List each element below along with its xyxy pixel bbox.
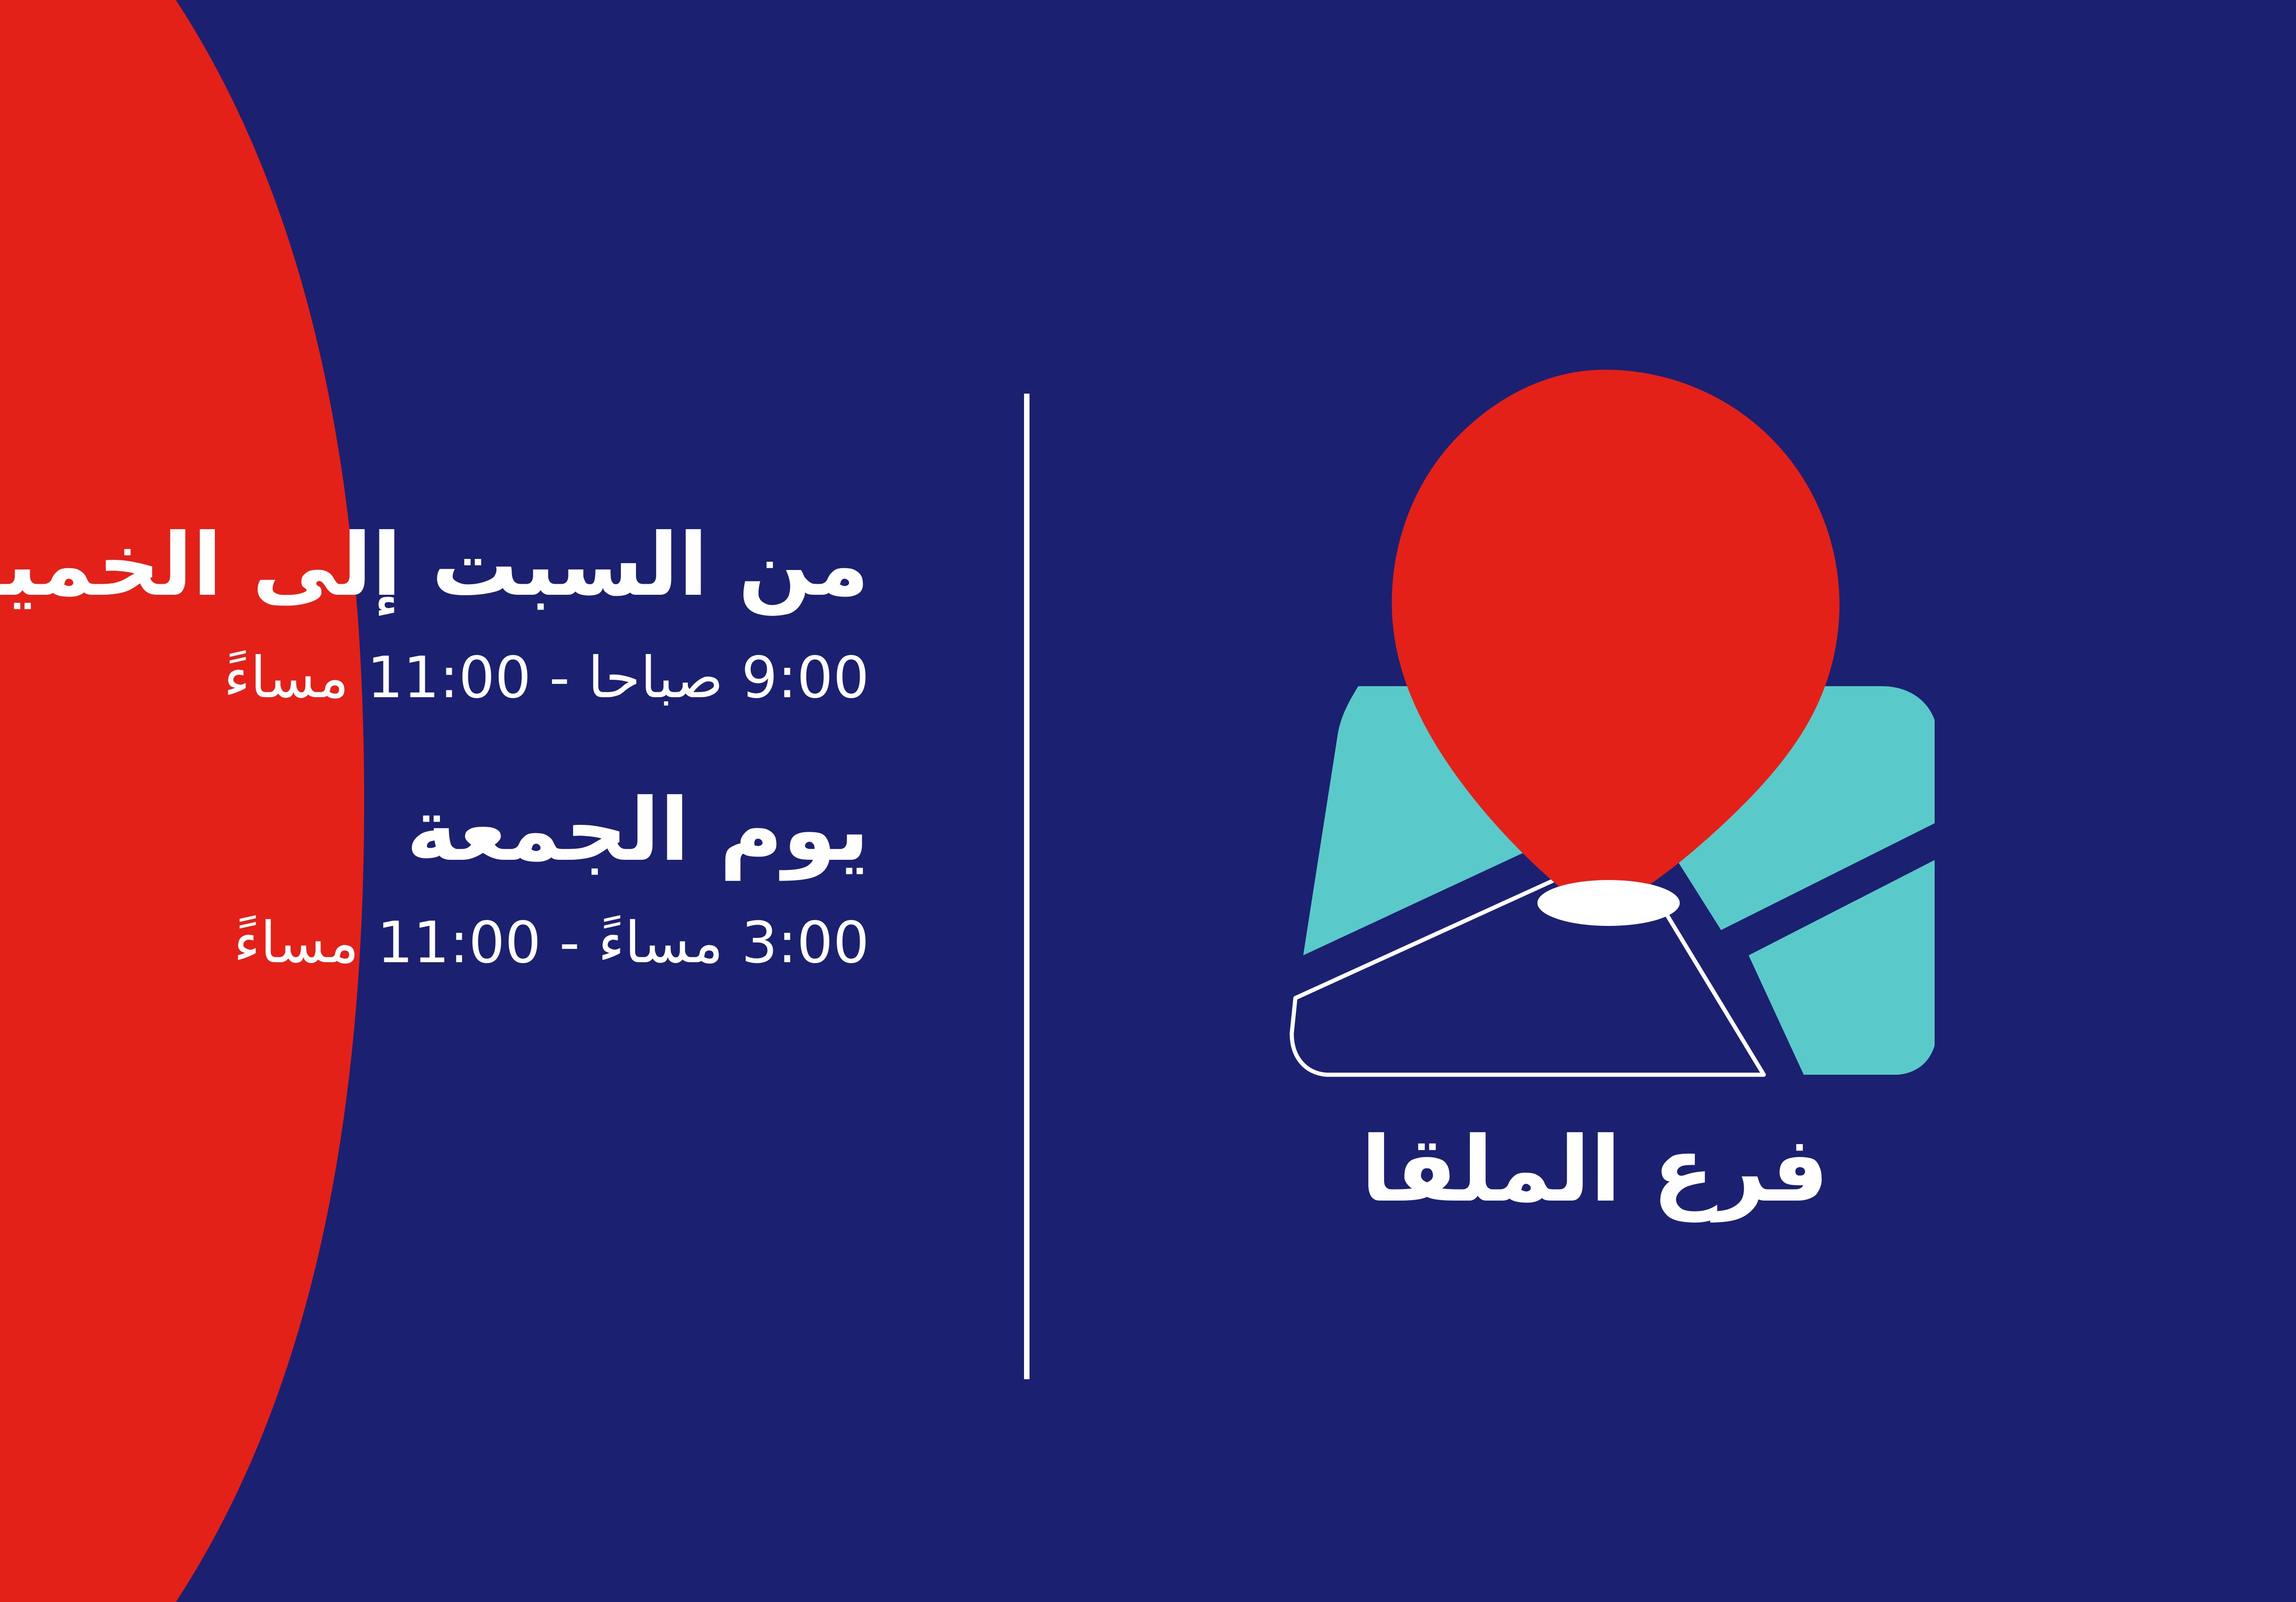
schedule-group-friday: يوم الجمعة 3:00 مساءً - 11:00 مساءً (0, 779, 869, 980)
friday-hours-text: 3:00 مساءً - 11:00 مساءً (0, 906, 869, 980)
map-location-pin-icon (1246, 358, 1935, 1093)
weekday-range-heading: من السبت إلى الخميس (0, 514, 869, 616)
banner-canvas: من السبت إلى الخميس 9:00 صباحا - 11:00 م… (0, 0, 2296, 1602)
weekday-hours-text: 9:00 صباحا - 11:00 مساءً (0, 641, 869, 715)
branch-name-label: فرع الملقا (1223, 1116, 1967, 1224)
vertical-divider (1024, 394, 1030, 1379)
friday-heading: يوم الجمعة (0, 779, 869, 881)
schedule-text-block: من السبت إلى الخميس 9:00 صباحا - 11:00 م… (0, 514, 869, 980)
pin-base-ellipse (1537, 880, 1680, 926)
schedule-group-weekdays: من السبت إلى الخميس 9:00 صباحا - 11:00 م… (0, 514, 869, 715)
